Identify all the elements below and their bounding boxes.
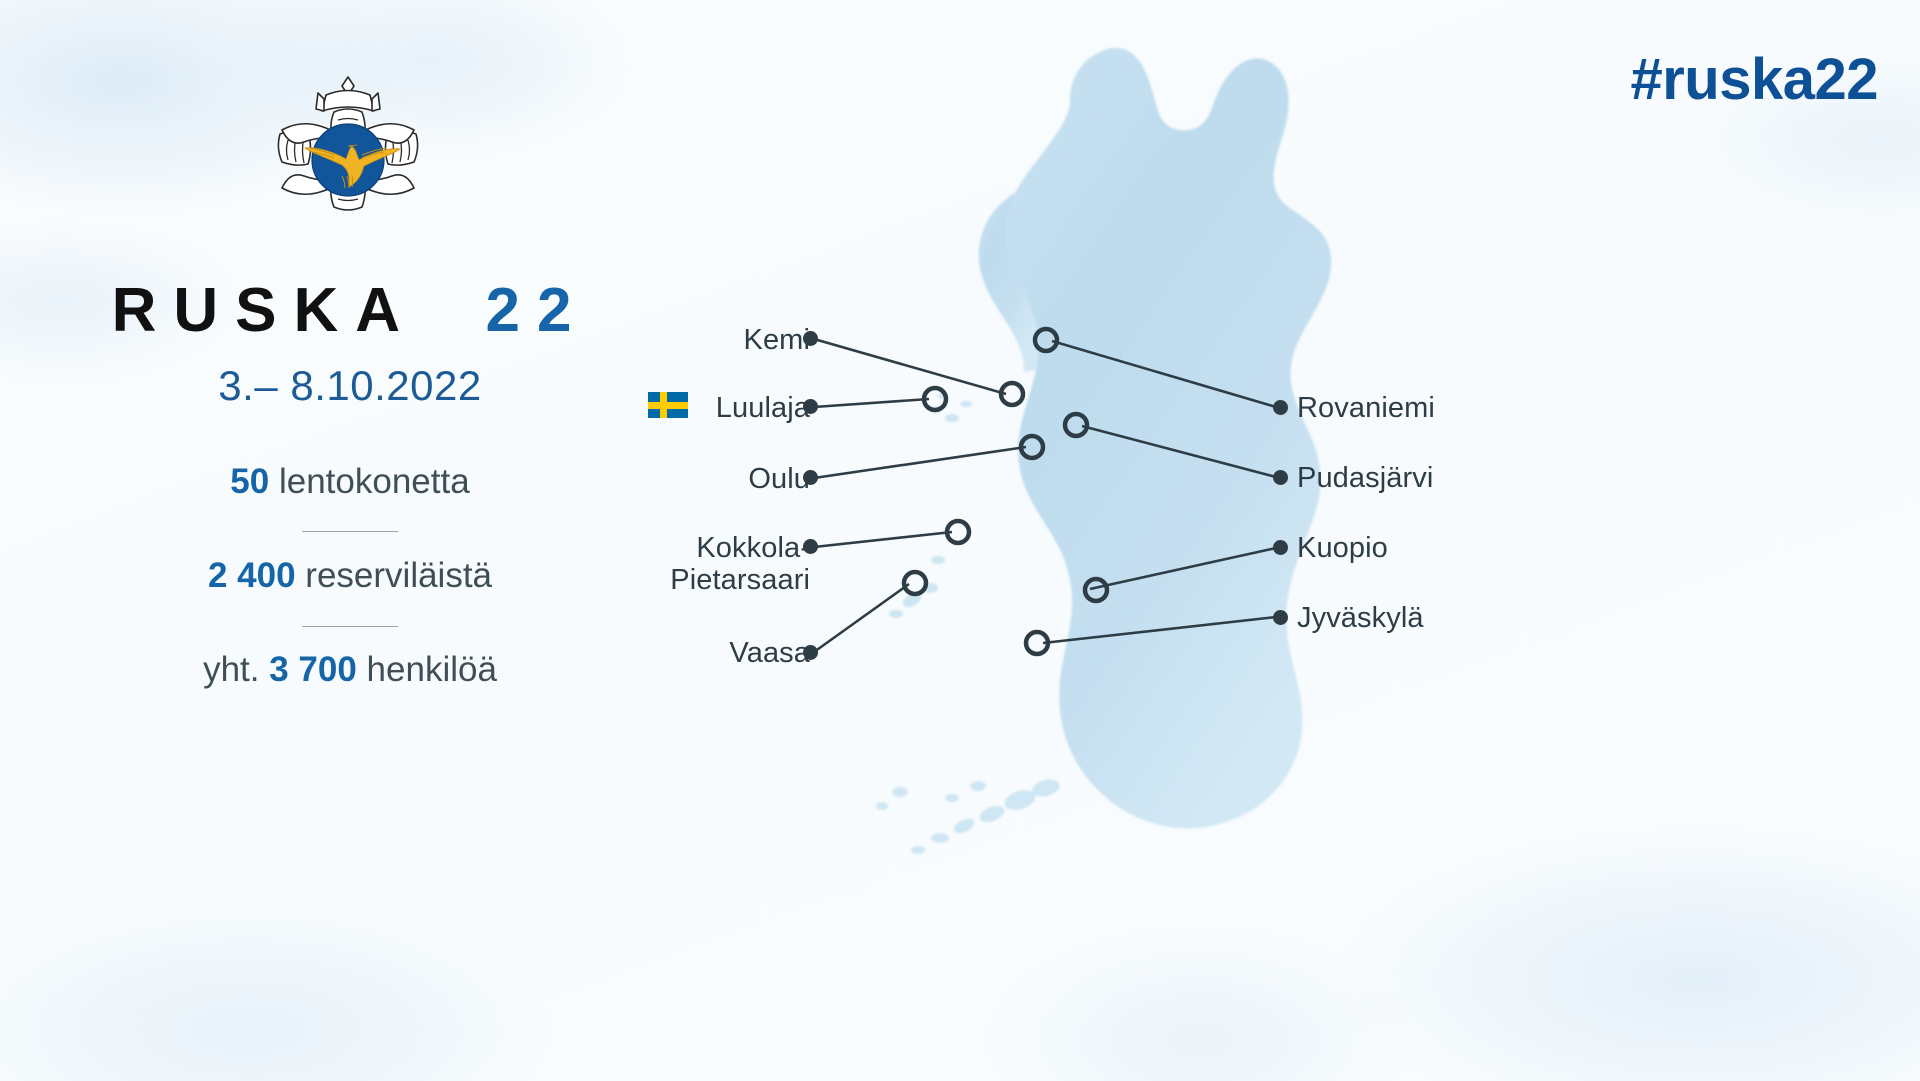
stat-reservists: 2 400 reserviläistä (0, 556, 700, 596)
map-label-kemi: Kemi (744, 324, 810, 356)
map-label-jyvaskyla: Jyväskylä (1297, 602, 1424, 634)
stat-divider-2 (302, 626, 398, 627)
stat-reservists-value: 2 400 (208, 556, 296, 595)
map-label-rovaniemi: Rovaniemi (1297, 392, 1435, 424)
map-label-kokkola-pietarsaari: Kokkola- Pietarsaari (670, 532, 810, 597)
stat-total-personnel: yht. 3 700 henkilöä (0, 650, 700, 690)
map-label-dot-jyvaskyla (1273, 610, 1288, 625)
leader-line-vaasa (814, 584, 909, 652)
map-of-finland: Kemi Luulaja Oulu Kokkola- Pietarsaari V… (600, 0, 1920, 1081)
map-marker-vaasa (904, 572, 926, 594)
stat-aircraft: 50 lentokonetta (0, 462, 700, 502)
map-label-dot-oulu (803, 470, 818, 485)
map-label-kokkola-line2: Pietarsaari (670, 564, 810, 596)
map-label-dot-rovaniemi (1273, 400, 1288, 415)
sweden-flag-icon (648, 392, 688, 418)
stat-total-value: 3 700 (269, 650, 357, 689)
leader-line-kemi (814, 339, 1006, 394)
stat-reservists-label: reserviläistä (305, 556, 492, 595)
stat-total-prefix: yht. (203, 650, 259, 689)
finnish-air-force-crest-icon (268, 72, 428, 247)
map-label-dot-kokkola-pietarsaari (803, 539, 818, 554)
map-label-dot-kuopio (1273, 540, 1288, 555)
map-label-vaasa: Vaasa (729, 637, 810, 669)
stat-divider-1 (302, 531, 398, 532)
infographic-canvas: RUSKA 22 3.– 8.10.2022 50 lentokonetta 2… (0, 0, 1920, 1081)
map-label-kuopio: Kuopio (1297, 532, 1388, 564)
stat-aircraft-label: lentokonetta (279, 462, 470, 501)
map-label-dot-pudasjarvi (1273, 470, 1288, 485)
leader-line-luulaja (814, 399, 929, 407)
map-label-pudasjarvi: Pudasjärvi (1297, 462, 1433, 494)
map-label-dot-kemi (803, 331, 818, 346)
map-label-luulaja: Luulaja (716, 392, 810, 424)
page-title: RUSKA 22 (0, 280, 700, 342)
finland-landmass (876, 48, 1331, 854)
map-label-dot-vaasa (803, 645, 818, 660)
leader-line-oulu (814, 447, 1026, 478)
stat-total-label: henkilöä (367, 650, 497, 689)
title-year: 22 (485, 276, 588, 345)
map-label-oulu: Oulu (748, 463, 810, 495)
stat-aircraft-value: 50 (230, 462, 269, 501)
map-label-dot-luulaja (803, 399, 818, 414)
leader-line-kokkola (814, 532, 952, 547)
event-dates: 3.– 8.10.2022 (0, 362, 700, 410)
map-label-kokkola-line1: Kokkola- (696, 532, 810, 564)
title-word: RUSKA (112, 276, 417, 345)
